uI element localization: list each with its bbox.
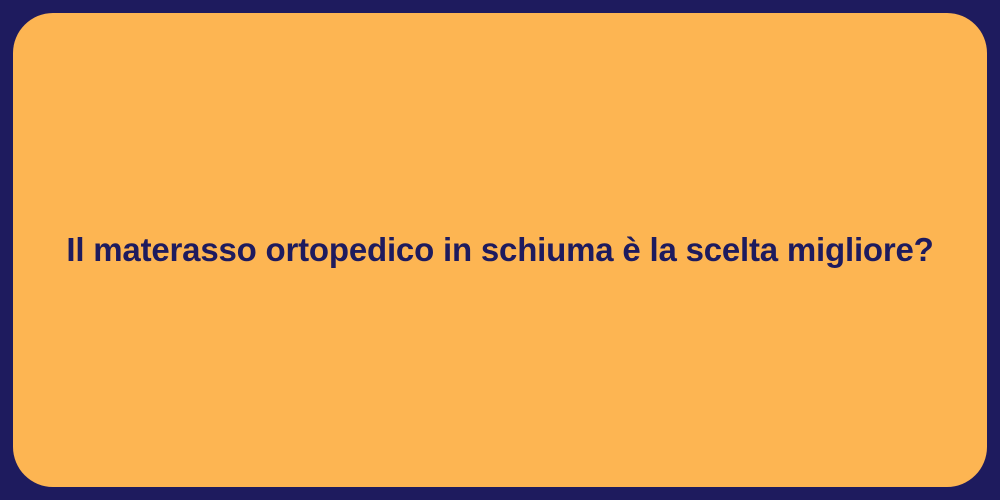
banner-panel: Il materasso ortopedico in schiuma è la …: [13, 13, 987, 487]
banner-heading: Il materasso ortopedico in schiuma è la …: [26, 229, 973, 270]
banner-frame: Il materasso ortopedico in schiuma è la …: [0, 0, 1000, 500]
